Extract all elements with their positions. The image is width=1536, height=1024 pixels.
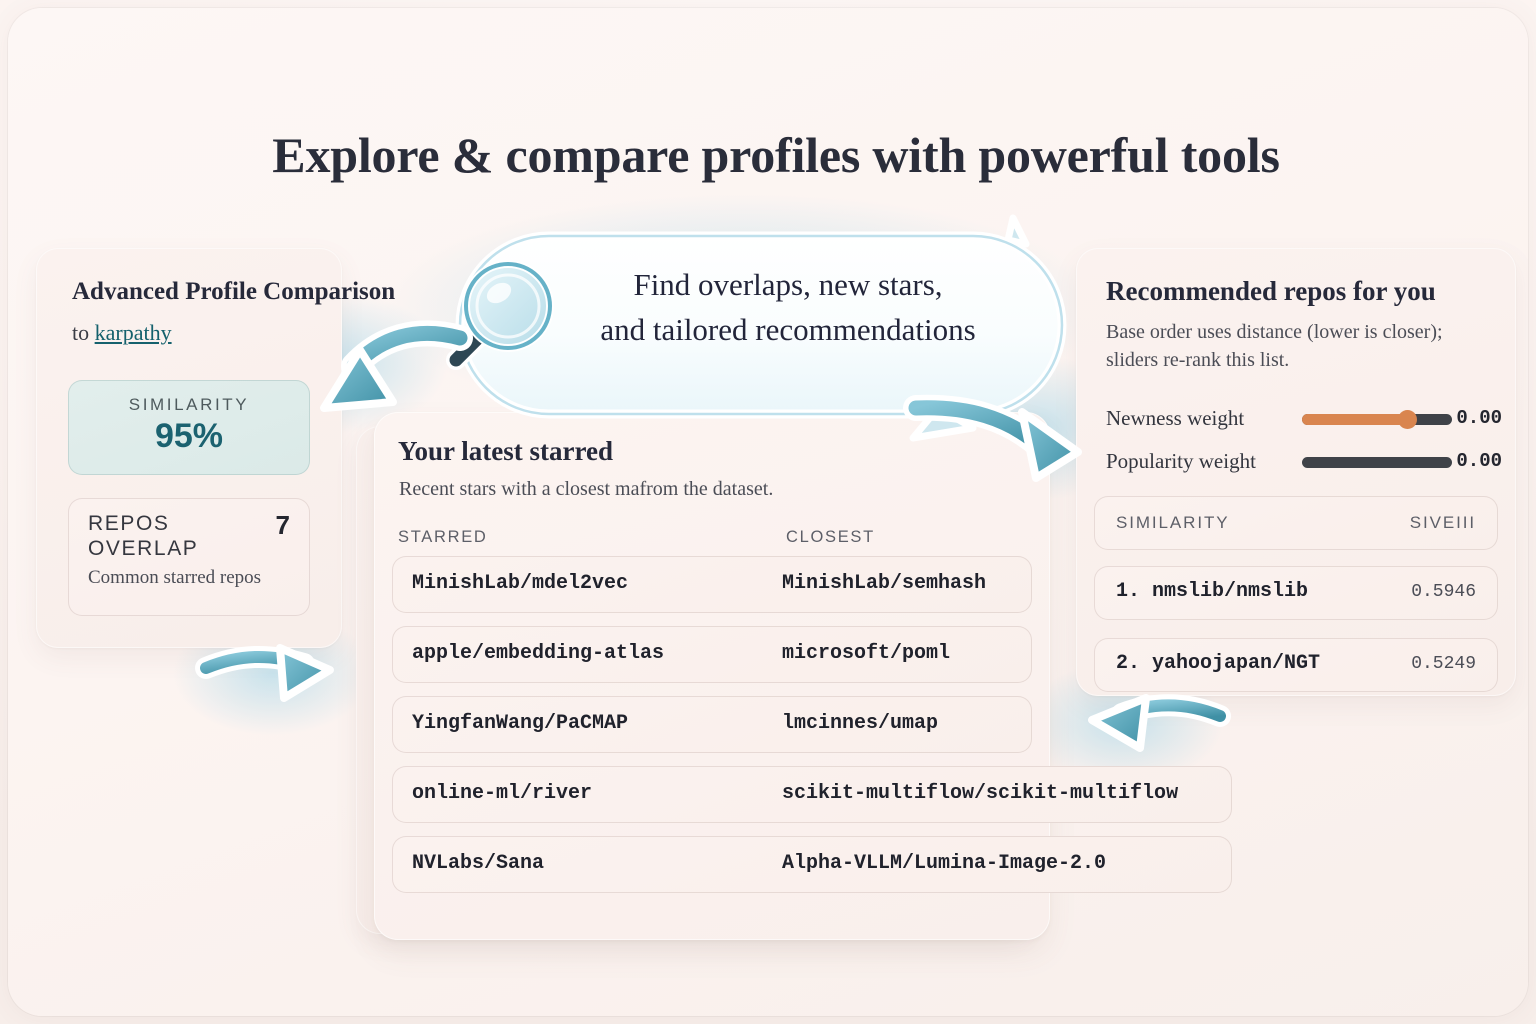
recommendations-table-header: SIMILARITY SIVEIII xyxy=(1094,496,1498,550)
recommendation-score: 0.5946 xyxy=(1411,582,1476,602)
similarity-label: SIMILARITY xyxy=(68,395,310,415)
rec-header-score: SIVEIII xyxy=(1410,513,1476,533)
closest-repo-name: MinishLab/semhash xyxy=(782,572,986,595)
column-header-starred: STARRED xyxy=(398,528,488,547)
column-header-closest: CLOSEST xyxy=(786,528,875,547)
starred-row[interactable]: YingfanWang/PaCMAPlmcinnes/umap xyxy=(392,696,1032,753)
compare-user-link[interactable]: karpathy xyxy=(95,320,172,345)
recommendation-row[interactable]: 1. nmslib/nmslib0.5946 xyxy=(1094,566,1498,620)
rec-header-similarity: SIMILARITY xyxy=(1116,513,1229,533)
right-panel-title: Recommended repos for you xyxy=(1106,276,1436,307)
starred-row[interactable]: MinishLab/mdel2vecMinishLab/semhash xyxy=(392,556,1032,613)
center-panel-subtitle: Recent stars with a closest mafrom the d… xyxy=(399,478,773,501)
left-panel-title: Advanced Profile Comparison xyxy=(72,278,395,306)
repos-overlap-label-line2: OVERLAP xyxy=(88,537,238,562)
closest-repo-name: scikit-multiflow/scikit-multiflow xyxy=(782,782,1178,805)
center-panel-title: Your latest starred xyxy=(398,436,613,467)
closest-repo-name: Alpha-VLLM/Lumina-Image-2.0 xyxy=(782,852,1106,875)
starred-repo-name: NVLabs/Sana xyxy=(412,852,544,875)
starred-repo-name: YingfanWang/PaCMAP xyxy=(412,712,628,735)
compare-target-line: to karpathy xyxy=(72,320,172,346)
recommended-repos-panel: Recommended repos for you Base order use… xyxy=(1076,248,1516,696)
starred-repo-name: apple/embedding-atlas xyxy=(412,642,664,665)
recommendation-score: 0.5249 xyxy=(1411,654,1476,674)
recommendation-row[interactable]: 2. yahoojapan/NGT0.5249 xyxy=(1094,638,1498,692)
slider-thumb[interactable] xyxy=(1398,410,1417,429)
recommendation-repo-name: 2. yahoojapan/NGT xyxy=(1116,652,1320,675)
closest-repo-name: lmcinnes/umap xyxy=(782,712,938,735)
slider-label: Popularity weight xyxy=(1106,449,1256,474)
right-panel-subtitle: Base order uses distance (lower is close… xyxy=(1106,318,1498,375)
latest-starred-panel: Your latest starred Recent stars with a … xyxy=(374,412,1050,940)
closest-repo-name: microsoft/poml xyxy=(782,642,950,665)
app-frame: Explore & compare profiles with powerful… xyxy=(8,8,1528,1016)
repos-overlap-label: REPOS OVERLAP xyxy=(88,512,238,561)
starred-row[interactable]: NVLabs/SanaAlpha-VLLM/Lumina-Image-2.0 xyxy=(392,836,1232,893)
slider-row: Newness weight0.00 xyxy=(1106,406,1502,432)
advanced-profile-comparison-panel: Advanced Profile Comparison to karpathy … xyxy=(36,248,342,648)
repos-overlap-label-line1: REPOS xyxy=(88,512,238,537)
repos-overlap-count: 7 xyxy=(276,510,290,541)
repos-overlap-card: REPOS OVERLAP 7 Common starred repos xyxy=(68,498,310,616)
slider-value: 0.00 xyxy=(1456,450,1502,472)
starred-row[interactable]: online-ml/riverscikit-multiflow/scikit-m… xyxy=(392,766,1232,823)
recommendation-repo-name: 1. nmslib/nmslib xyxy=(1116,580,1308,603)
slider-track[interactable] xyxy=(1302,457,1452,468)
slider-label: Newness weight xyxy=(1106,406,1244,431)
compare-prefix: to xyxy=(72,320,89,345)
page-root: Explore & compare profiles with powerful… xyxy=(0,0,1536,1024)
similarity-badge: SIMILARITY 95% xyxy=(68,380,310,475)
repos-overlap-row: REPOS OVERLAP 7 xyxy=(68,498,310,561)
starred-repo-name: MinishLab/mdel2vec xyxy=(412,572,628,595)
page-title: Explore & compare profiles with powerful… xyxy=(8,126,1528,184)
slider-track[interactable] xyxy=(1302,414,1452,425)
slider-fill xyxy=(1302,414,1407,425)
starred-row[interactable]: apple/embedding-atlasmicrosoft/poml xyxy=(392,626,1032,683)
repos-overlap-note: Common starred repos xyxy=(68,561,310,589)
slider-row: Popularity weight0.00 xyxy=(1106,449,1502,475)
slider-value: 0.00 xyxy=(1456,407,1502,429)
similarity-value: 95% xyxy=(68,417,310,456)
starred-repo-name: online-ml/river xyxy=(412,782,592,805)
